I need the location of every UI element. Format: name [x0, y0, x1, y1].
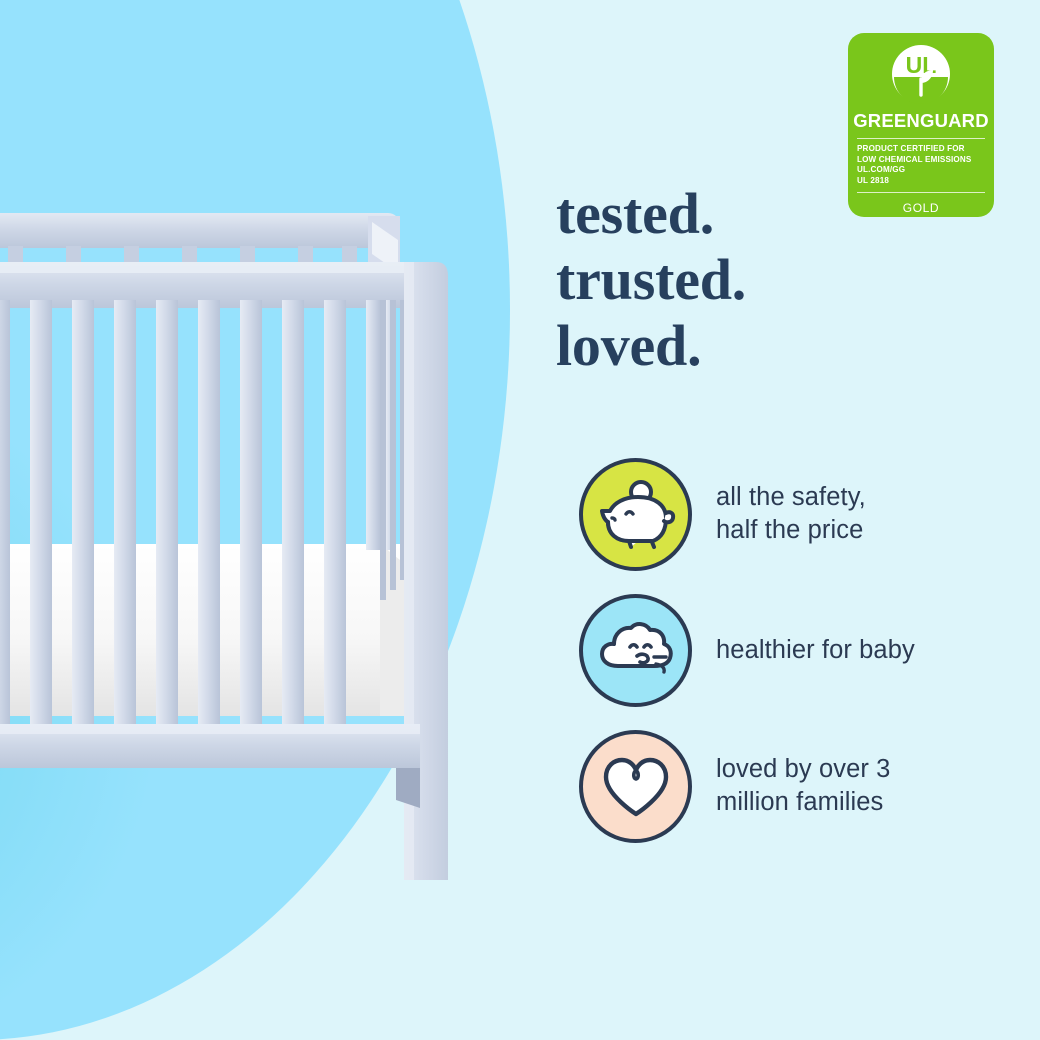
- list-item-label: all the safety, half the price: [716, 481, 866, 547]
- badge-line-3: UL.COM/GG: [857, 165, 985, 176]
- badge-line-1: PRODUCT CERTIFIED FOR: [857, 144, 985, 155]
- headline-line-3: loved.: [556, 313, 746, 379]
- list-item: all the safety, half the price: [579, 455, 999, 573]
- list-item: loved by over 3 million families: [579, 727, 999, 845]
- list-item-label: loved by over 3 million families: [716, 753, 890, 819]
- feature-1-line-2: half the price: [716, 514, 866, 547]
- badge-divider-bottom: [857, 192, 985, 193]
- badge-fine-print: PRODUCT CERTIFIED FOR LOW CHEMICAL EMISS…: [848, 144, 994, 186]
- feature-1-line-1: all the safety,: [716, 481, 866, 514]
- piggy-bank-icon: [579, 458, 692, 571]
- list-item-label: healthier for baby: [716, 634, 915, 667]
- badge-divider-top: [857, 138, 985, 139]
- ul-leaf-logo-icon: UL: [848, 33, 994, 109]
- badge-line-2: LOW CHEMICAL EMISSIONS: [857, 155, 985, 166]
- feature-3-line-2: million families: [716, 786, 890, 819]
- baby-crib-illustration: [0, 0, 520, 1040]
- promo-graphic: UL GREENGUARD PRODUCT CERTIFIED FOR LOW …: [0, 0, 1040, 1040]
- heart-icon: [579, 730, 692, 843]
- badge-level: GOLD: [848, 201, 994, 215]
- list-item: healthier for baby: [579, 591, 999, 709]
- headline-line-2: trusted.: [556, 247, 746, 313]
- feature-list: all the safety, half the price healthier…: [579, 455, 999, 845]
- page-title: tested. trusted. loved.: [556, 181, 746, 379]
- headline-line-1: tested.: [556, 181, 746, 247]
- greenguard-badge: UL GREENGUARD PRODUCT CERTIFIED FOR LOW …: [848, 33, 994, 217]
- feature-3-line-1: loved by over 3: [716, 753, 890, 786]
- feature-2-line-1: healthier for baby: [716, 634, 915, 667]
- badge-line-4: UL 2818: [857, 176, 985, 187]
- badge-title: GREENGUARD: [848, 110, 994, 132]
- blowing-cloud-icon: [579, 594, 692, 707]
